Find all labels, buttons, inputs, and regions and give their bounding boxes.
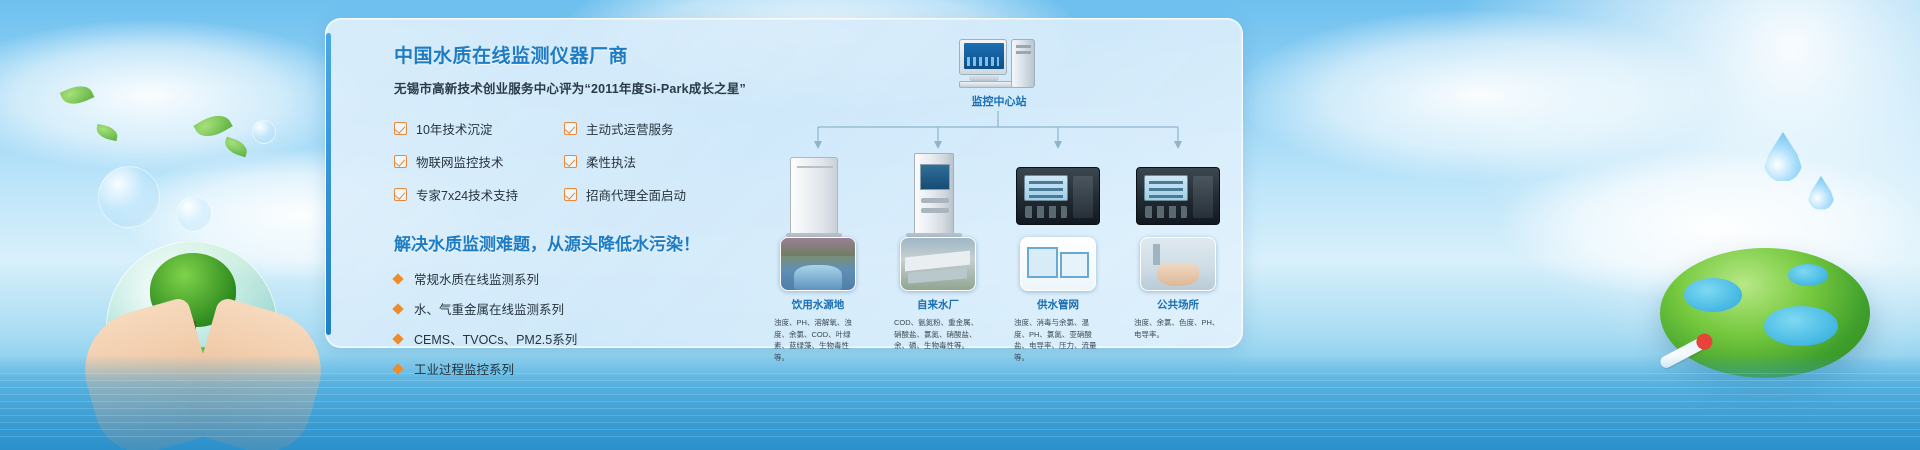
checklist-item: 10年技术沉淀: [394, 119, 564, 138]
water-droplet-icon: [1808, 176, 1834, 210]
content-panel: 中国水质在线监测仪器厂商 无锡市高新技术创业服务中心评为“2011年度Si-Pa…: [325, 18, 1243, 348]
water-droplet-icon: [1764, 132, 1802, 182]
cabinet-analyzer-icon: [772, 149, 864, 237]
rack-analyzer-icon: [892, 149, 984, 237]
meter-side-module: [1073, 176, 1093, 218]
checkbox-checked-icon: [394, 188, 407, 201]
list-item: CEMS、TVOCs、PM2.5系列: [394, 329, 754, 348]
list-item-label: CEMS、TVOCs、PM2.5系列: [414, 329, 577, 348]
checklist-item: 主动式运营服务: [564, 119, 734, 138]
checkbox-checked-icon: [564, 155, 577, 168]
list-item: 水、气重金属在线监测系列: [394, 299, 754, 318]
leaf-decoration: [222, 137, 249, 158]
checkbox-checked-icon: [564, 188, 577, 201]
list-item-label: 常规水质在线监测系列: [414, 269, 539, 288]
checklist-item: 柔性执法: [564, 152, 734, 171]
monitor-icon: [959, 39, 1007, 75]
checkbox-checked-icon: [394, 155, 407, 168]
checklist-item-label: 柔性执法: [586, 152, 636, 171]
device-title: 公共场所: [1132, 297, 1224, 312]
green-earth-illustration: [1660, 248, 1870, 378]
scene-thumbnail: [1020, 237, 1096, 291]
panel-meter-icon: [1012, 149, 1104, 237]
feature-checklist: 10年技术沉淀 主动式运营服务 物联网监控技术 柔性执法 专家7x24技术支持 …: [394, 119, 754, 204]
keyboard-icon: [959, 81, 1013, 88]
diamond-bullet-icon: [392, 333, 403, 344]
scene-thumbnail: [900, 237, 976, 291]
system-topology-diagram: 监控中心站: [766, 31, 1226, 343]
list-item: 常规水质在线监测系列: [394, 269, 754, 288]
list-item: 工业过程监控系列: [394, 359, 754, 378]
left-text-column: 中国水质在线监测仪器厂商 无锡市高新技术创业服务中心评为“2011年度Si-Pa…: [394, 41, 754, 389]
device-description: 浊度、消毒与余氯、温度、PH、氯氮、亚硝酸盐、电导率、压力、流量等。: [1012, 317, 1104, 364]
diamond-bullet-icon: [392, 363, 403, 374]
device-column: 公共场所 浊度、余氯、色度、PH、电导率。: [1132, 149, 1224, 340]
device-description: 浊度、余氯、色度、PH、电导率。: [1132, 317, 1224, 340]
checklist-item: 专家7x24技术支持: [394, 185, 564, 204]
checklist-item-label: 专家7x24技术支持: [416, 185, 518, 204]
checklist-item-label: 主动式运营服务: [586, 119, 674, 138]
pc-tower-icon: [1011, 39, 1035, 88]
checkbox-checked-icon: [394, 122, 407, 135]
device-description: COD、氨氮粉、重金属、硝酸盐、氯氮、硝酸盐、余、磷、生物毒性等。: [892, 317, 984, 352]
scene-thumbnail: [1140, 237, 1216, 291]
monitoring-center-computer-icon: [959, 39, 1037, 89]
diamond-bullet-icon: [392, 273, 403, 284]
meter-buttons: [1025, 206, 1067, 218]
earth-sea: [1684, 278, 1742, 312]
device-column: 自来水厂 COD、氨氮粉、重金属、硝酸盐、氯氮、硝酸盐、余、磷、生物毒性等。: [892, 149, 984, 352]
analyzer-rack: [914, 153, 954, 237]
page-title: 中国水质在线监测仪器厂商: [394, 41, 754, 68]
earth-sea: [1788, 264, 1828, 286]
list-item-label: 工业过程监控系列: [414, 359, 514, 378]
center-station-label: 监控中心站: [934, 93, 1064, 109]
analyzer-cabinet: [790, 157, 838, 237]
meter-lcd-screen: [1024, 175, 1068, 201]
monitor-screen: [964, 43, 1004, 69]
meter-lcd-screen: [1144, 175, 1188, 201]
device-title: 饮用水源地: [772, 297, 864, 312]
checklist-item-label: 物联网监控技术: [416, 152, 504, 171]
panel-accent-bar: [326, 33, 331, 335]
leaf-decoration: [60, 81, 95, 110]
device-column: 供水管网 浊度、消毒与余氯、温度、PH、氯氮、亚硝酸盐、电导率、压力、流量等。: [1012, 149, 1104, 364]
panel-meter-body: [1136, 167, 1220, 225]
analyzer-knob: [921, 208, 949, 213]
panel-meter-icon: [1132, 149, 1224, 237]
panel-meter-body: [1016, 167, 1100, 225]
checklist-item: 物联网监控技术: [394, 152, 564, 171]
cloud-decoration: [1240, 10, 1720, 180]
hands-holding-tree-illustration: [88, 235, 318, 450]
bubble-decoration: [252, 120, 276, 144]
product-series-list: 常规水质在线监测系列 水、气重金属在线监测系列 CEMS、TVOCs、PM2.5…: [394, 269, 754, 378]
device-title: 自来水厂: [892, 297, 984, 312]
list-item-label: 水、气重金属在线监测系列: [414, 299, 564, 318]
checkbox-checked-icon: [564, 122, 577, 135]
diamond-bullet-icon: [392, 303, 403, 314]
scene-thumbnail: [780, 237, 856, 291]
page-subtitle: 无锡市高新技术创业服务中心评为“2011年度Si-Park成长之星”: [394, 78, 754, 97]
device-description: 浊度、PH、溶解氧、浊度、余氯、COD、叶绿素、蓝绿藻、生物毒性等。: [772, 317, 864, 364]
earth-sea: [1764, 306, 1838, 346]
checklist-item-label: 10年技术沉淀: [416, 119, 492, 138]
analyzer-knob: [921, 198, 949, 203]
meter-buttons: [1145, 206, 1187, 218]
bubble-decoration: [98, 166, 160, 228]
bubble-decoration: [176, 196, 212, 232]
leaf-decoration: [95, 124, 119, 141]
device-title: 供水管网: [1012, 297, 1104, 312]
device-column: 饮用水源地 浊度、PH、溶解氧、浊度、余氯、COD、叶绿素、蓝绿藻、生物毒性等。: [772, 149, 864, 364]
checklist-item-label: 招商代理全面启动: [586, 185, 686, 204]
checklist-item: 招商代理全面启动: [564, 185, 734, 204]
section-headline: 解决水质监测难题，从源头降低水污染！: [394, 230, 754, 255]
meter-side-module: [1193, 176, 1213, 218]
cloud-decoration: [0, 20, 360, 170]
analyzer-window: [920, 164, 950, 190]
